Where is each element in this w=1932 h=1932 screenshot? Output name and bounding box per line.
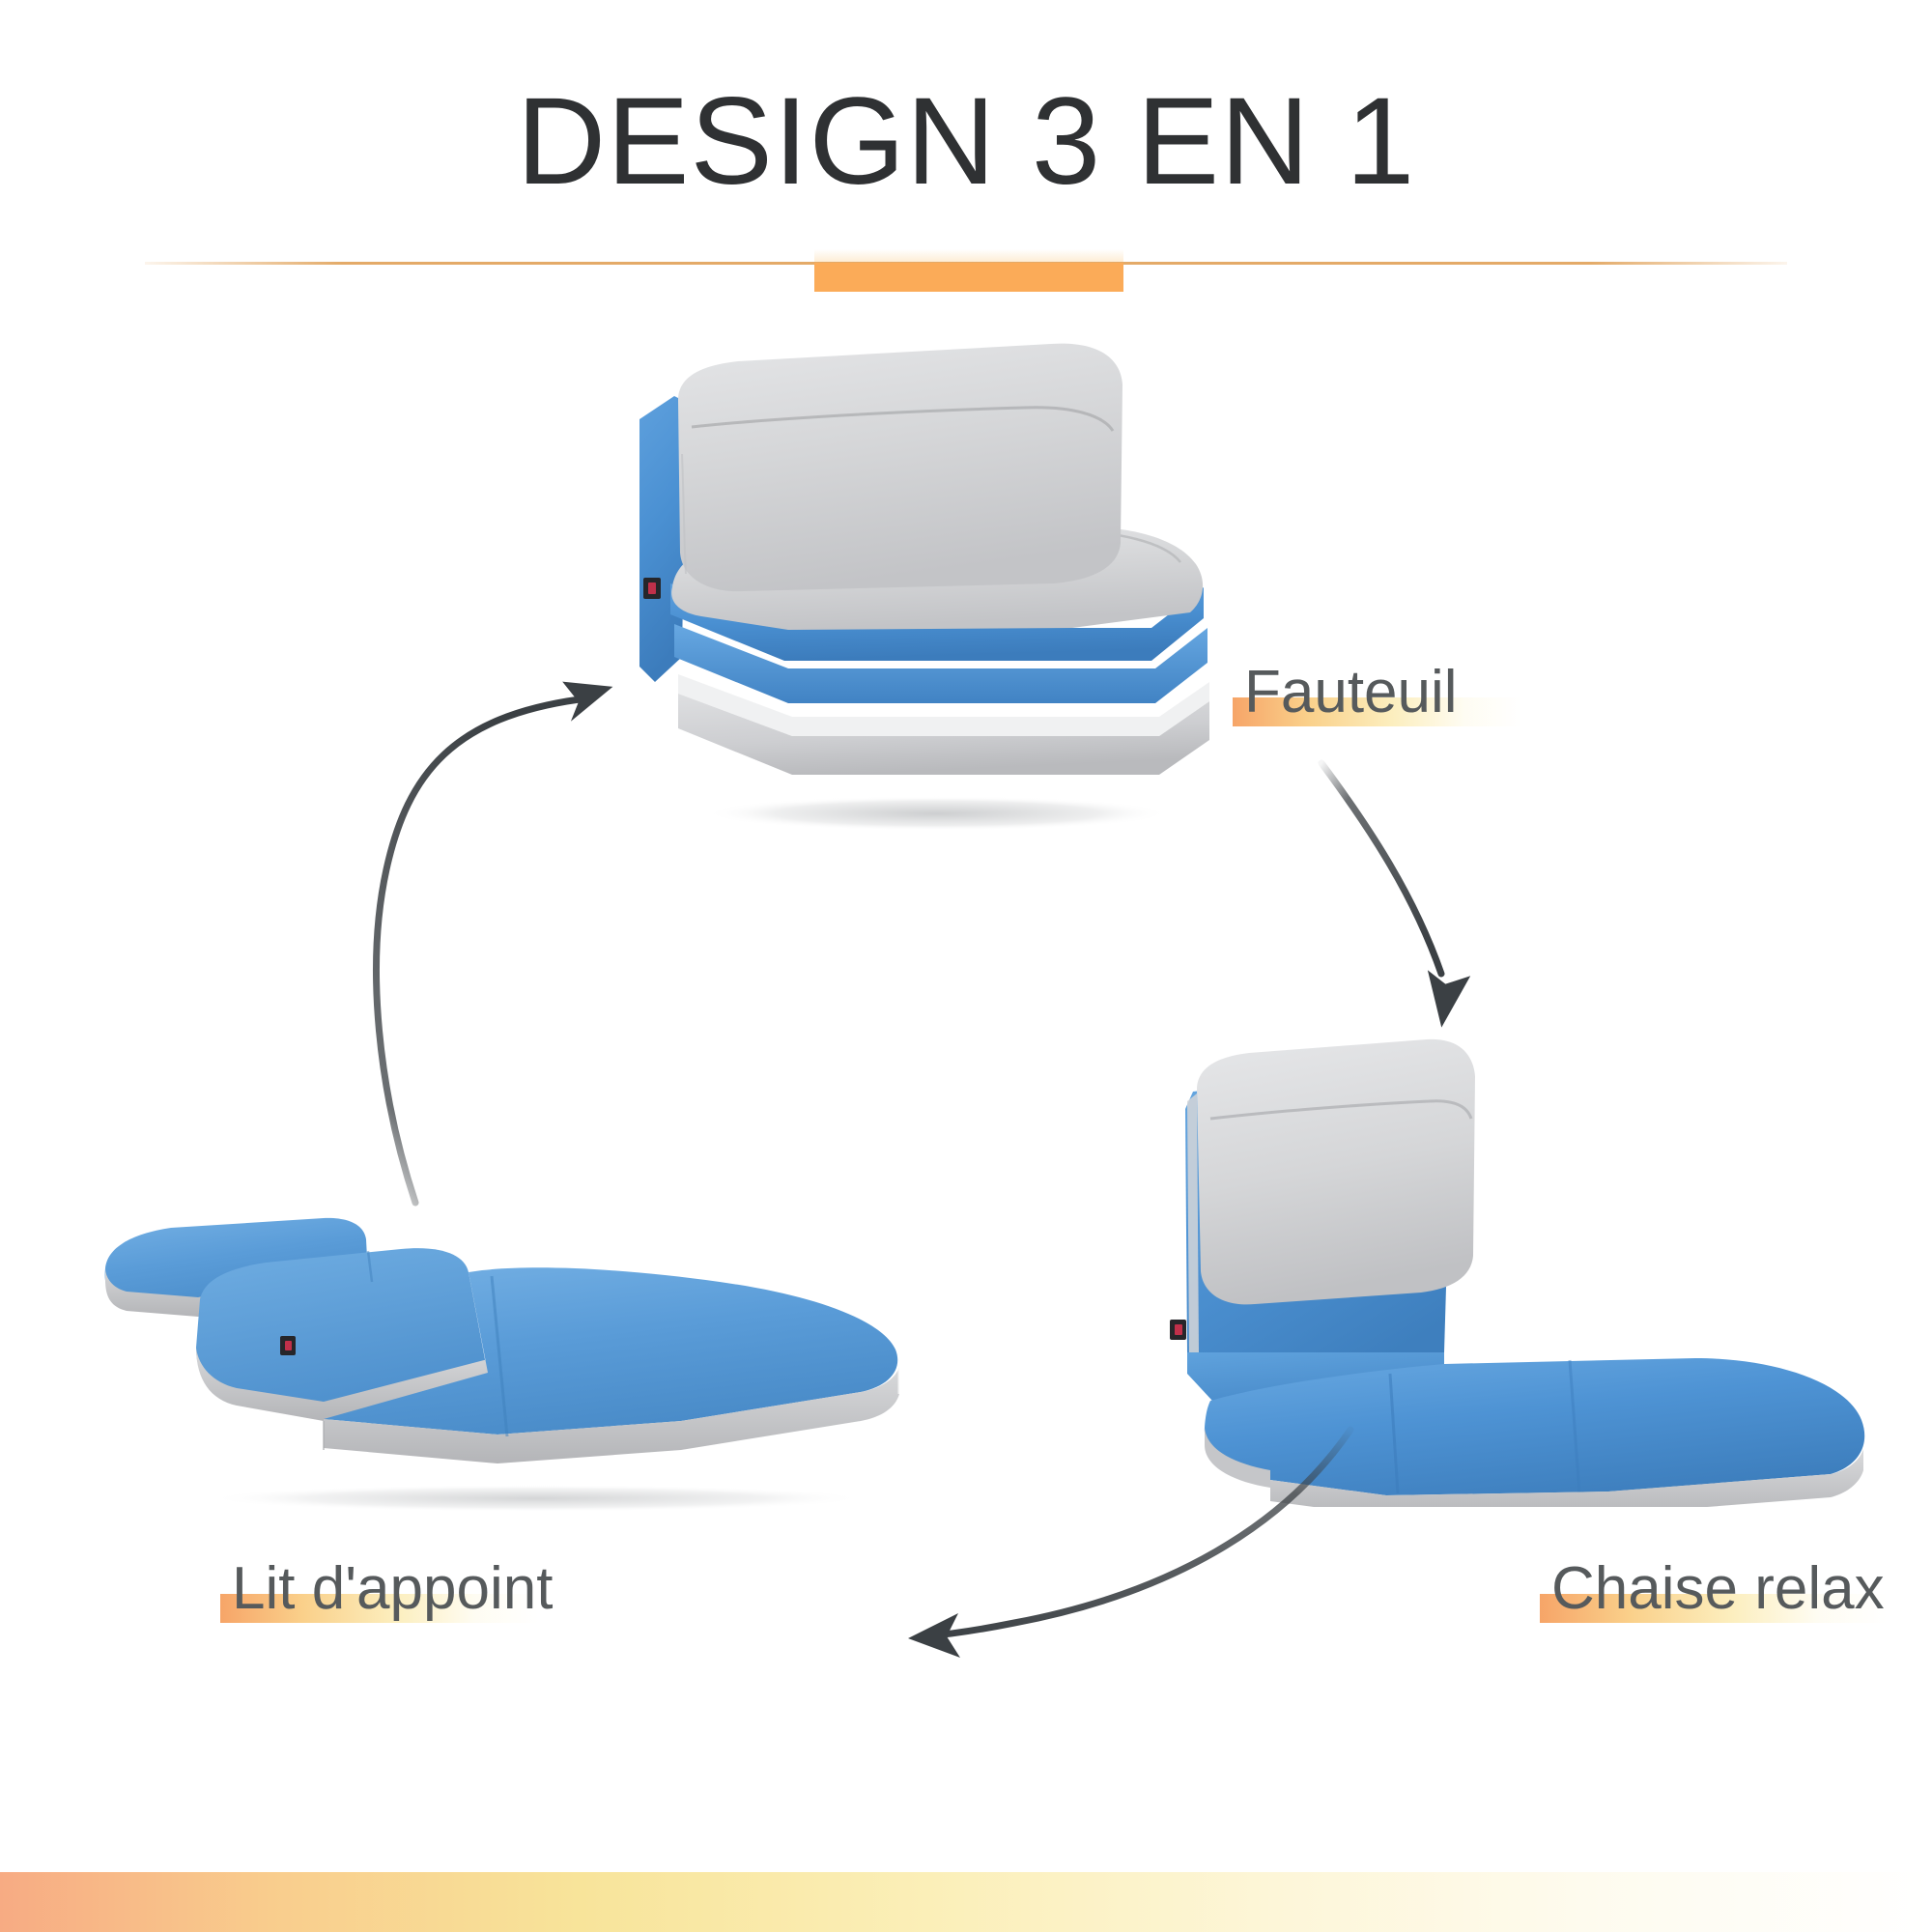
footer-gradient-band: [0, 1872, 1932, 1932]
label-fauteuil: Fauteuil: [1244, 663, 1458, 723]
label-lit-appoint: Lit d'appoint: [232, 1559, 553, 1619]
drop-shadow: [208, 1485, 865, 1512]
label-chaise-relax: Chaise relax: [1551, 1559, 1885, 1619]
backrest-cushion: [678, 344, 1122, 592]
brand-tag: [1170, 1320, 1186, 1340]
label-fauteuil-text: Fauteuil: [1244, 659, 1458, 725]
label-chaise-relax-text: Chaise relax: [1551, 1555, 1885, 1622]
brand-tag: [280, 1336, 296, 1355]
drop-shadow: [705, 796, 1169, 831]
product-image-lit-appoint: [82, 1212, 942, 1512]
title-accent-chip: [814, 263, 1123, 292]
arrow-bed-to-chair: [377, 671, 618, 1203]
page-title: DESIGN 3 EN 1: [0, 75, 1932, 209]
infographic-page: DESIGN 3 EN 1: [0, 0, 1932, 1932]
brand-tag: [643, 578, 661, 599]
product-image-fauteuil: [618, 338, 1236, 831]
label-lit-appoint-text: Lit d'appoint: [232, 1555, 553, 1622]
headrest-pillow: [1197, 1039, 1475, 1305]
backrest-left-edge: [1187, 1094, 1199, 1360]
arrow-chair-to-chaise: [1321, 763, 1470, 1031]
product-image-chaise-relax: [1154, 1034, 1927, 1507]
